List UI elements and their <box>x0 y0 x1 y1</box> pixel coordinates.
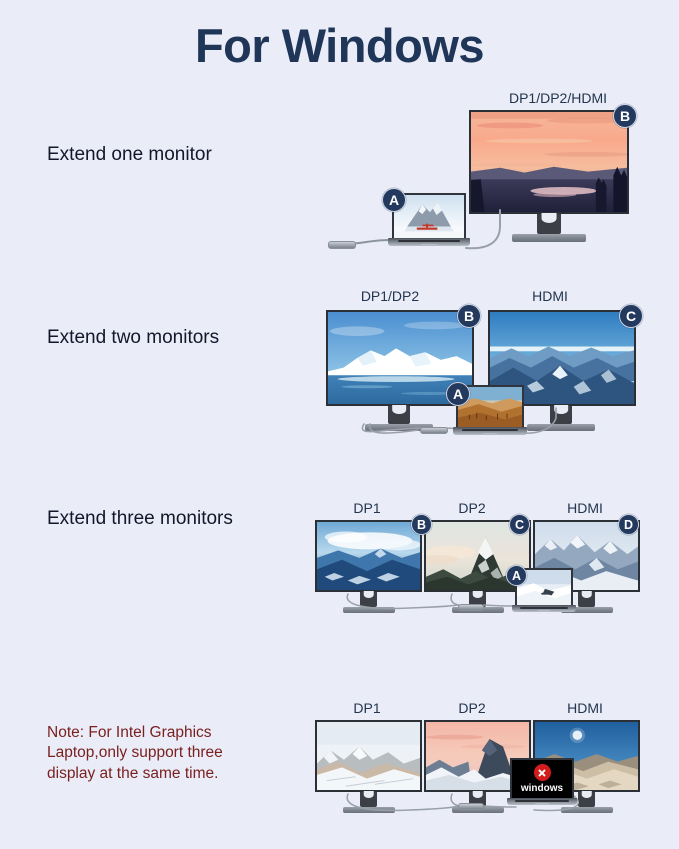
laptop-trackpad <box>535 803 549 804</box>
dock-adapter-section-three <box>458 604 484 611</box>
monitor-neck <box>388 406 410 424</box>
monitor-base <box>527 424 595 431</box>
monitor-bezel <box>469 110 629 214</box>
windows-label: windows <box>521 784 563 794</box>
laptop-keyboard <box>398 240 460 243</box>
note-intel-graphics: Note: For Intel Graphics Laptop,only sup… <box>47 723 262 784</box>
port-label-dp1-three: DP1 <box>325 500 409 516</box>
laptop-base <box>507 798 577 805</box>
laptop-base <box>453 427 528 435</box>
port-label-hdmi-note: HDMI <box>540 700 630 716</box>
laptop-keyboard <box>462 429 519 432</box>
monitor-bezel <box>315 720 422 792</box>
monitor-base <box>512 234 586 242</box>
windows-error-panel: windows <box>512 760 572 798</box>
badge-c-section-two: C <box>619 304 643 328</box>
monitor-bezel <box>315 520 422 592</box>
section-heading-extend-three: Extend three monitors <box>47 508 233 530</box>
red-x-circle-icon <box>534 764 551 781</box>
monitor-dp1-dp2-hdmi <box>469 110 629 242</box>
monitor-base <box>343 807 395 813</box>
monitor-neck <box>578 592 595 607</box>
monitor-base <box>343 607 395 613</box>
laptop-base <box>512 605 576 612</box>
infographic-page: For Windows Extend one monitor DP1/DP2/H… <box>0 0 679 849</box>
badge-a-section-three: A <box>506 565 527 586</box>
badge-b-section-two: B <box>457 304 481 328</box>
port-label-dp1-dp2-hdmi: DP1/DP2/HDMI <box>488 90 628 106</box>
monitor-neck <box>537 214 561 234</box>
badge-c-section-three: C <box>509 514 530 535</box>
port-label-dp2-three: DP2 <box>430 500 514 516</box>
section-heading-extend-two: Extend two monitors <box>47 327 219 349</box>
section-heading-extend-one: Extend one monitor <box>47 144 212 166</box>
badge-b-section-one: B <box>613 104 637 128</box>
port-label-dp1-dp2: DP1/DP2 <box>340 288 440 304</box>
laptop-screen-windows-error: windows <box>512 760 572 798</box>
laptop-trackpad <box>483 433 498 434</box>
laptop-section-note: windows <box>510 758 574 808</box>
badge-a-section-two: A <box>446 382 470 406</box>
monitor-screen-glacier-white <box>317 722 420 790</box>
port-label-hdmi-three: HDMI <box>540 500 630 516</box>
monitor-dp1-dp2 <box>326 310 474 432</box>
badge-d-section-three: D <box>618 514 639 535</box>
laptop-trackpad <box>421 244 437 245</box>
badge-a-section-one: A <box>382 188 406 212</box>
badge-b-section-three: B <box>411 514 432 535</box>
monitor-dp1-three <box>315 520 422 616</box>
monitor-screen-sunset-lake <box>471 112 627 212</box>
laptop-keyboard <box>520 607 568 609</box>
dock-adapter-section-note <box>458 803 484 810</box>
monitor-neck <box>578 792 595 807</box>
monitor-neck <box>360 592 377 607</box>
dock-adapter-section-two <box>420 427 448 434</box>
laptop-base <box>388 238 469 246</box>
monitor-screen-blue-alps <box>317 522 420 590</box>
port-label-hdmi-two: HDMI <box>500 288 600 304</box>
monitor-neck <box>550 406 572 424</box>
laptop-keyboard <box>515 800 568 802</box>
page-title: For Windows <box>0 22 679 69</box>
port-label-dp1-note: DP1 <box>325 700 409 716</box>
laptop-lid: windows <box>510 758 574 798</box>
dock-adapter-section-one <box>328 241 356 249</box>
laptop-trackpad <box>538 610 551 611</box>
monitor-dp1-note <box>315 720 422 816</box>
port-label-dp2-note: DP2 <box>430 700 514 716</box>
monitor-neck <box>360 792 377 807</box>
